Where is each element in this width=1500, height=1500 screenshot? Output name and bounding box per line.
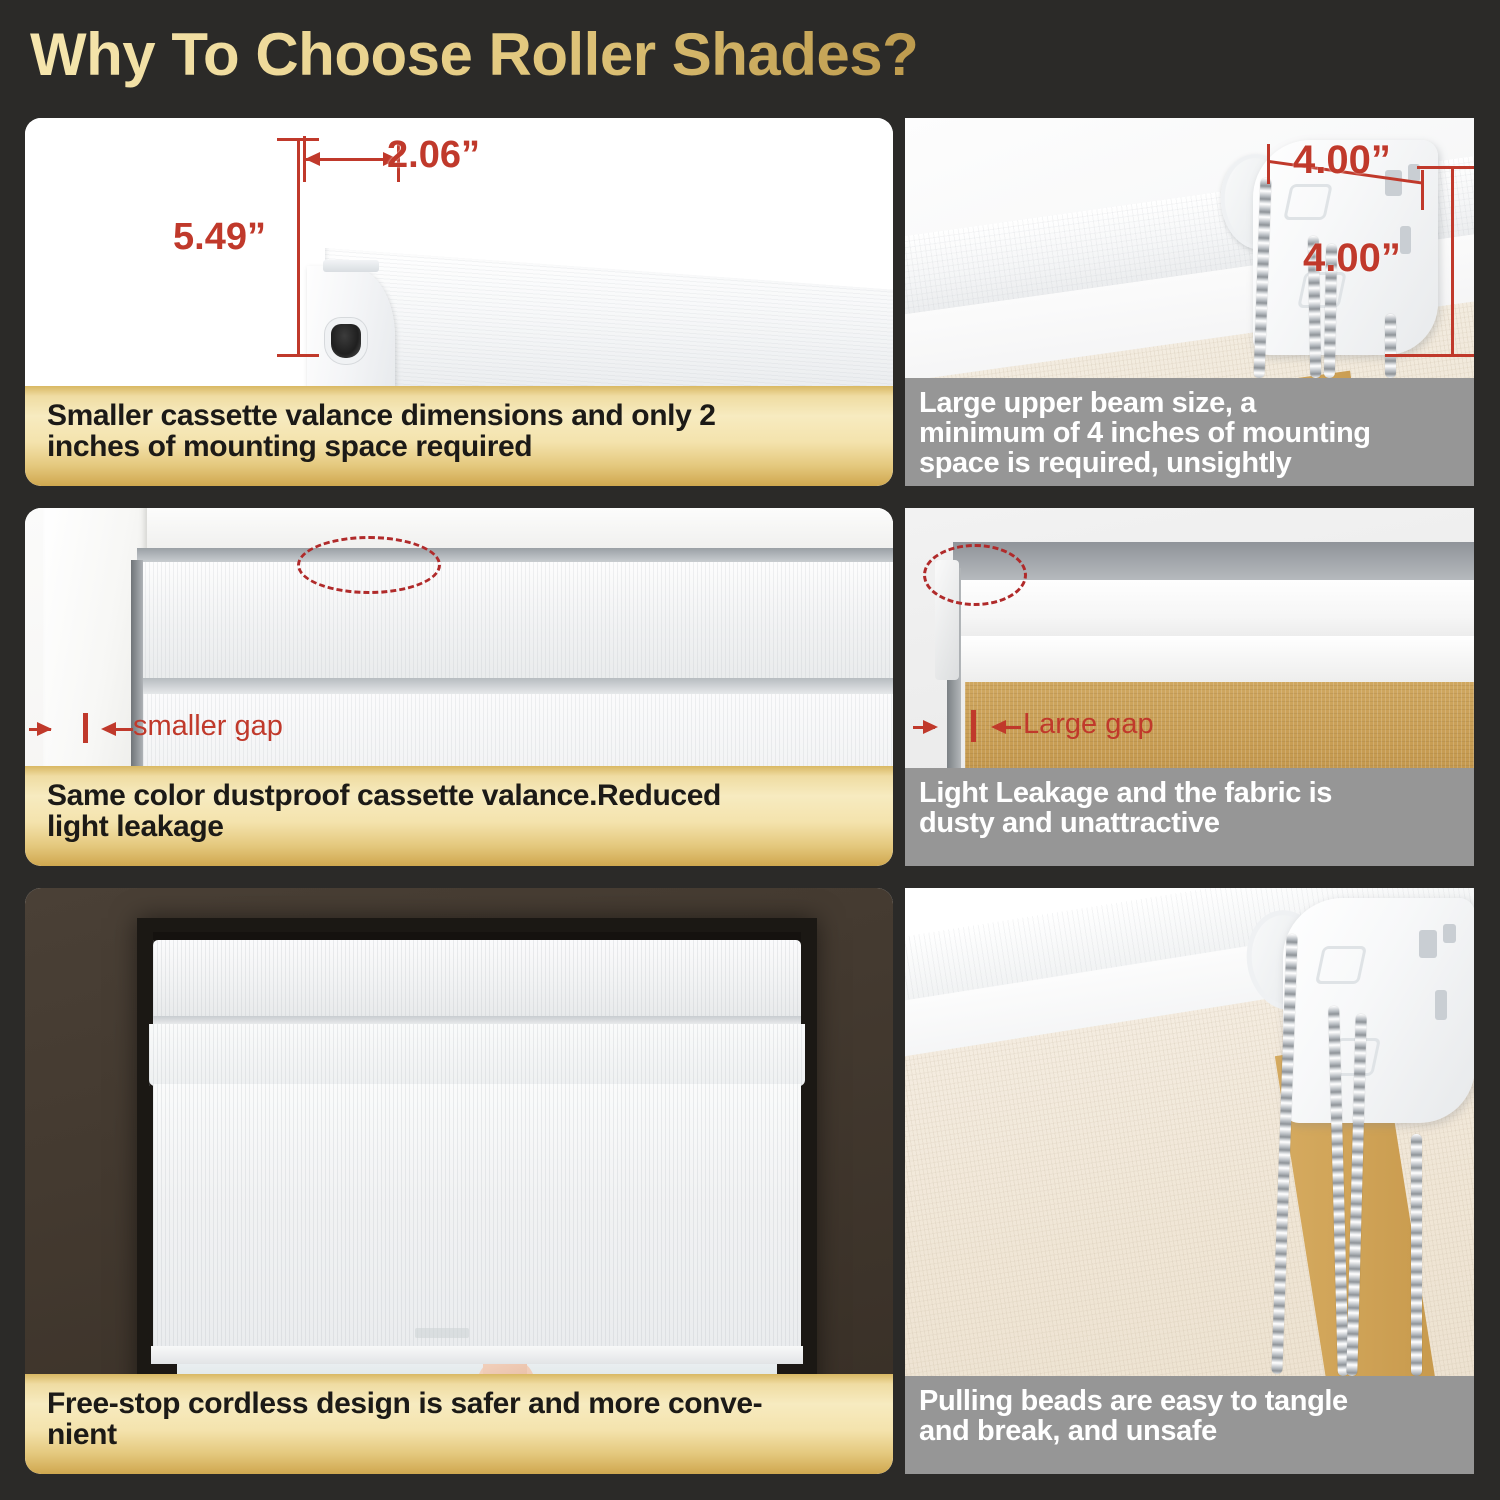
dim-extension-line bbox=[1385, 354, 1474, 357]
infographic-root: Why To Choose Roller Shades? 2.06” bbox=[0, 0, 1500, 1500]
mounting-hook bbox=[323, 260, 379, 272]
panel-top-left: 2.06” 5.49” Smaller cassette valance dim… bbox=[25, 118, 893, 486]
caption-bottom-right: Pulling beads are easy to tangle and bre… bbox=[905, 1376, 1474, 1474]
gap-callout-label: Large gap bbox=[1023, 708, 1154, 741]
caption-line-2: light leakage bbox=[47, 811, 721, 842]
dim-extension-line bbox=[277, 138, 319, 141]
height-dimension-line bbox=[297, 138, 300, 356]
bead-chain bbox=[1411, 1134, 1422, 1376]
caption-bottom-left: Free-stop cordless design is safer and m… bbox=[25, 1374, 893, 1474]
highlight-ellipse-icon bbox=[297, 536, 441, 594]
height-dimension-label: 4.00” bbox=[1303, 236, 1401, 281]
panel-bottom-left: Free-stop cordless design is safer and m… bbox=[25, 888, 893, 1474]
panel-top-right: 4.00” 4.00” Large upper beam size, a min… bbox=[905, 118, 1474, 486]
caption-line-1: Pulling beads are easy to tangle bbox=[919, 1386, 1348, 1416]
dim-extension-line bbox=[277, 354, 319, 357]
bead-chain-shade-photo bbox=[905, 888, 1474, 1376]
shade-upper-panel bbox=[149, 1024, 805, 1086]
caption-line-2: inches of mounting space required bbox=[47, 431, 716, 462]
caption-line-2: nient bbox=[47, 1419, 762, 1450]
window-frame-top bbox=[125, 508, 893, 550]
caption-line-1: Same color dustproof cassette valance.Re… bbox=[47, 780, 721, 811]
shade-headrail bbox=[953, 542, 1474, 584]
cassette-valance-photo: 2.06” 5.49” bbox=[25, 118, 893, 386]
dim-arrow-left-icon bbox=[305, 152, 320, 166]
dim-extension-line bbox=[1417, 166, 1474, 169]
caption-mid-right: Light Leakage and the fabric is dusty an… bbox=[905, 768, 1474, 866]
large-beam-photo: 4.00” 4.00” bbox=[905, 118, 1474, 378]
gap-callout-label: smaller gap bbox=[133, 710, 283, 743]
caption-mid-left: Same color dustproof cassette valance.Re… bbox=[25, 766, 893, 866]
caption-line-3: space is required, unsightly bbox=[919, 448, 1371, 478]
caption-line-1: Large upper beam size, a bbox=[919, 388, 1371, 418]
caption-line-2: and break, and unsafe bbox=[919, 1416, 1348, 1446]
shade-midrail bbox=[137, 678, 893, 694]
brand-logo bbox=[415, 1328, 469, 1338]
width-dimension-label: 4.00” bbox=[1293, 138, 1391, 183]
dim-tick bbox=[1421, 170, 1424, 210]
caption-top-right: Large upper beam size, a minimum of 4 in… bbox=[905, 378, 1474, 486]
panel-mid-right: Large gap Light Leakage and the fabric i… bbox=[905, 508, 1474, 866]
gap-line bbox=[29, 728, 51, 731]
cassette-valance bbox=[153, 940, 801, 1020]
cordless-shade-room-photo bbox=[25, 888, 893, 1374]
caption-line-2: dusty and unattractive bbox=[919, 808, 1332, 838]
page-title: Why To Choose Roller Shades? bbox=[30, 20, 918, 89]
mounting-bracket bbox=[1283, 898, 1474, 1123]
smaller-gap-photo: smaller gap bbox=[25, 508, 893, 766]
caption-line-2: minimum of 4 inches of mounting bbox=[919, 418, 1371, 448]
width-dimension-label: 2.06” bbox=[387, 134, 480, 177]
shade-bottom-rail bbox=[151, 1346, 803, 1364]
gap-line bbox=[1003, 726, 1021, 729]
highlight-ellipse-icon bbox=[923, 544, 1027, 606]
large-gap-photo: Large gap bbox=[905, 508, 1474, 768]
endcap-hole bbox=[331, 324, 361, 358]
shade-fabric bbox=[153, 1084, 801, 1354]
gap-tick bbox=[971, 710, 976, 742]
caption-line-1: Light Leakage and the fabric is bbox=[919, 778, 1332, 808]
caption-line-1: Free-stop cordless design is safer and m… bbox=[47, 1388, 762, 1419]
caption-line-1: Smaller cassette valance dimensions and … bbox=[47, 400, 716, 431]
window-glass bbox=[177, 1364, 777, 1374]
gap-line bbox=[913, 726, 935, 729]
height-dimension-line bbox=[1451, 166, 1454, 356]
panel-bottom-right: Pulling beads are easy to tangle and bre… bbox=[905, 888, 1474, 1474]
shade-valance-lower bbox=[957, 636, 1474, 684]
gap-line bbox=[113, 728, 133, 731]
panel-mid-left: smaller gap Same color dustproof cassett… bbox=[25, 508, 893, 866]
cassette-valance bbox=[137, 562, 893, 682]
dim-tick bbox=[1267, 144, 1270, 184]
height-dimension-label: 5.49” bbox=[173, 216, 266, 259]
caption-top-left: Smaller cassette valance dimensions and … bbox=[25, 386, 893, 486]
gap-tick bbox=[83, 713, 88, 743]
bead-chain bbox=[1385, 314, 1396, 378]
